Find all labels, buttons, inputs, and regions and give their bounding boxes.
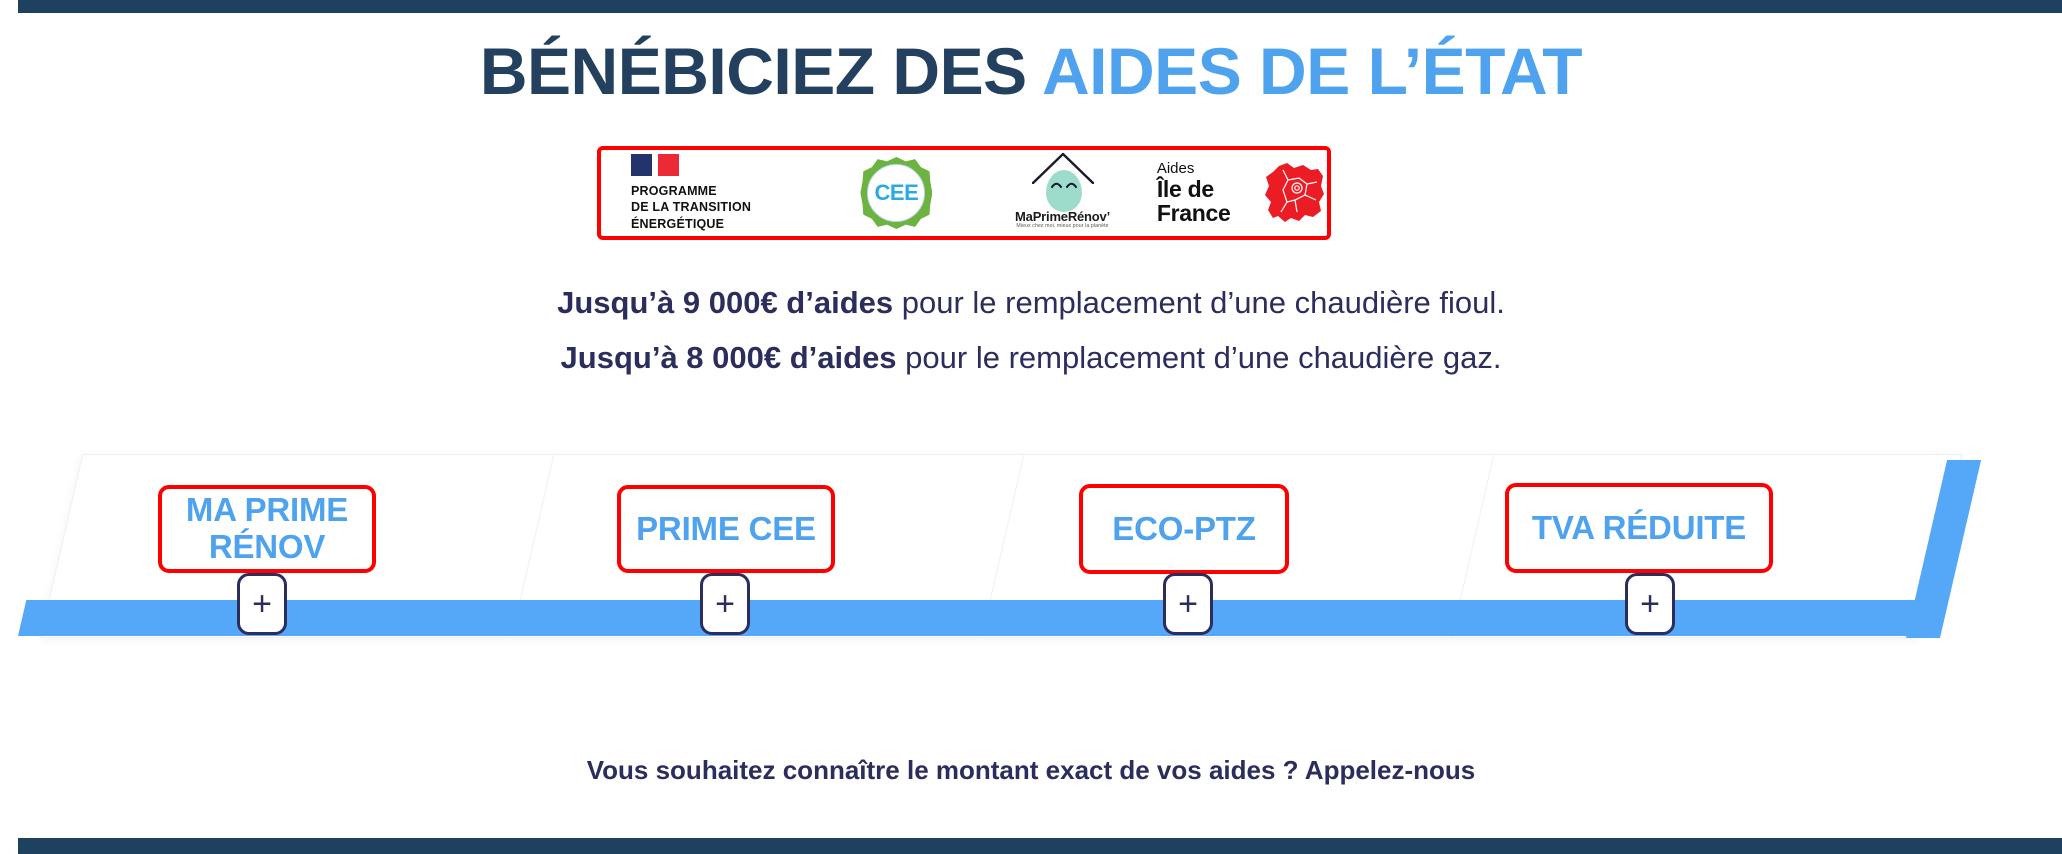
eyes-icon [1051, 180, 1077, 192]
aid-amount-gaz-value: Jusqu’à 8 000€ d’aides [561, 340, 897, 375]
aid-schemes-panel: MA PRIME RÉNOV PRIME CEE ECO-PTZ TVA RÉD… [0, 440, 2062, 670]
aid-card-tva-reduite[interactable]: TVA RÉDUITE [1505, 483, 1773, 573]
top-accent-bar [18, 0, 2062, 13]
aid-amount-fioul-text: pour le remplacement d’une chaudière fio… [893, 285, 1505, 320]
aid-amount-line-gaz: Jusqu’à 8 000€ d’aides pour le remplacem… [0, 340, 2062, 376]
cee-label: CEE [875, 180, 919, 206]
maprimerenov-tagline: Mieux chez moi, mieux pour la planète [998, 223, 1128, 229]
expand-button-ma-prime-renov[interactable]: + [237, 573, 287, 635]
page-root: BÉNÉBICIEZ DES AIDES DE L’ÉTAT PROGRAMME… [0, 0, 2062, 854]
expand-button-tva-reduite[interactable]: + [1625, 573, 1675, 635]
logo-maprimerenov: MaPrimeRénov’ Mieux chez moi, mieux pour… [974, 150, 1150, 236]
page-title-light-part: AIDES DE L’ÉTAT [1042, 34, 1582, 108]
logo-programme-line3: ÉNERGÉTIQUE [631, 216, 751, 233]
aid-amount-fioul-value: Jusqu’à 9 000€ d’aides [557, 285, 893, 320]
aid-card-label: MA PRIME RÉNOV [170, 492, 364, 566]
bottom-accent-bar [18, 838, 2062, 854]
aid-card-prime-cee[interactable]: PRIME CEE [617, 485, 835, 573]
aid-card-ma-prime-renov[interactable]: MA PRIME RÉNOV [158, 485, 376, 573]
french-flag-icon [631, 154, 679, 176]
plus-icon: + [252, 587, 272, 621]
plus-icon: + [715, 587, 735, 621]
aid-amount-line-fioul: Jusqu’à 9 000€ d’aides pour le remplacem… [0, 285, 2062, 321]
plus-icon: + [1640, 587, 1660, 621]
aid-card-label: PRIME CEE [636, 511, 816, 548]
certification-logo-bar: PROGRAMME DE LA TRANSITION ÉNERGÉTIQUE C… [597, 146, 1331, 240]
aid-card-label: TVA RÉDUITE [1532, 510, 1746, 547]
logo-aides-ile-de-france: Aides Île de France [1151, 150, 1327, 236]
aid-amount-gaz-text: pour le remplacement d’une chaudière gaz… [897, 340, 1502, 375]
page-title: BÉNÉBICIEZ DES AIDES DE L’ÉTAT [0, 38, 2062, 104]
maprimerenov-name: MaPrimeRénov’ [998, 209, 1128, 224]
aid-card-eco-ptz[interactable]: ECO-PTZ [1079, 484, 1289, 574]
expand-button-eco-ptz[interactable]: + [1163, 573, 1213, 635]
cee-badge-icon: CEE [860, 157, 932, 229]
aid-card-label: ECO-PTZ [1112, 511, 1255, 548]
plus-icon: + [1178, 587, 1198, 621]
logo-programme-line2: DE LA TRANSITION [631, 199, 751, 216]
logo-programme-transition-energetique: PROGRAMME DE LA TRANSITION ÉNERGÉTIQUE [601, 150, 818, 236]
idf-line2: Île de France [1157, 177, 1263, 225]
contact-cta-text: Vous souhaitez connaître le montant exac… [0, 755, 2062, 786]
logo-cee: CEE [818, 150, 974, 236]
idf-line1: Aides [1157, 161, 1263, 177]
expand-button-prime-cee[interactable]: + [700, 573, 750, 635]
logo-programme-line1: PROGRAMME [631, 183, 751, 200]
ile-de-france-map-icon [1261, 162, 1325, 224]
page-title-dark-part: BÉNÉBICIEZ DES [480, 34, 1042, 108]
